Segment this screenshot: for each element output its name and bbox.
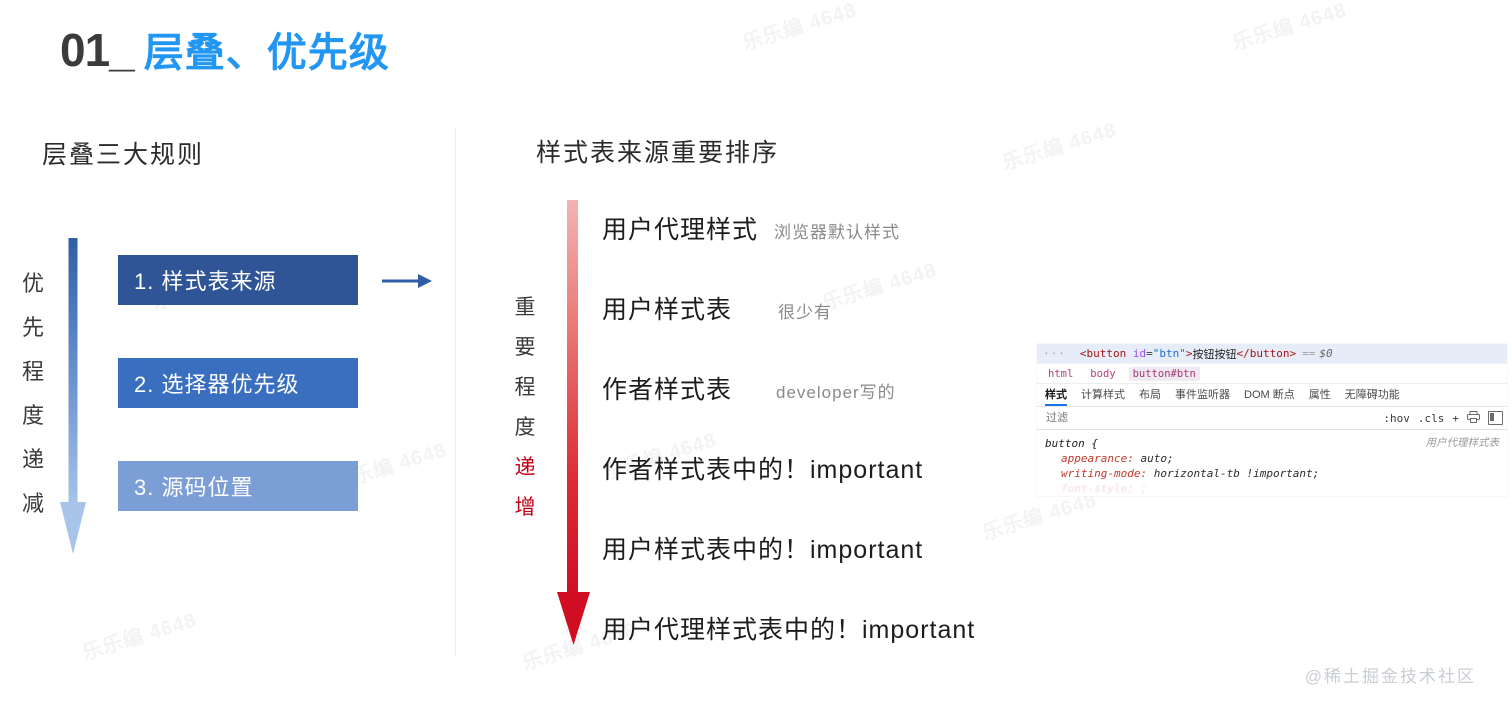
dom-close-tag: </button>: [1236, 347, 1296, 360]
left-axis-char: 程: [18, 350, 48, 394]
source-order-item-label: 用户代理样式表中的！important: [602, 610, 975, 646]
source-order-item-note: 很少有: [778, 298, 832, 323]
dom-attr-name: id: [1133, 347, 1146, 360]
cascade-rule-box-1[interactable]: 1. 样式表来源: [118, 255, 358, 305]
right-axis-char: 重: [510, 288, 540, 328]
right-arrow-blue-icon: [382, 270, 432, 292]
print-media-icon[interactable]: [1467, 411, 1480, 426]
devtools-breadcrumb: html body button#btn: [1037, 364, 1507, 384]
right-axis-char: 要: [510, 328, 540, 368]
left-section-heading: 层叠三大规则: [42, 135, 204, 171]
source-order-item: 用户样式表 很少有: [602, 290, 991, 370]
cascade-rule-box-3-label: 3. 源码位置: [134, 470, 253, 502]
css-declaration[interactable]: writing-mode: horizontal-tb !important;: [1045, 466, 1499, 481]
source-order-item: 用户代理样式 浏览器默认样式: [602, 210, 991, 290]
css-declaration[interactable]: appearance: auto;: [1045, 451, 1499, 466]
down-arrow-red-gradient-icon: [552, 200, 596, 650]
source-order-item-note: 浏览器默认样式: [774, 218, 900, 243]
tab-dom-breakpoints[interactable]: DOM 断点: [1244, 384, 1295, 406]
tab-event-listeners[interactable]: 事件监听器: [1175, 384, 1230, 406]
source-order-list: 用户代理样式 浏览器默认样式 用户样式表 很少有 作者样式表 developer…: [602, 210, 991, 690]
right-axis-char: 程: [510, 368, 540, 408]
breadcrumb-item-button[interactable]: button#btn: [1129, 367, 1200, 381]
cascade-rule-box-1-label: 1. 样式表来源: [134, 264, 276, 296]
dom-attr-value: "btn": [1153, 347, 1186, 360]
dom-dollar-zero: $0: [1319, 347, 1332, 360]
right-axis-label: 重 要 程 度 递 增: [510, 288, 540, 528]
tab-computed[interactable]: 计算样式: [1081, 384, 1125, 406]
watermark-text: 乐乐编 4648: [1228, 0, 1349, 56]
page-title: 01_ 层叠、优先级: [60, 20, 390, 78]
styles-toolbar: :hov .cls +: [1383, 411, 1503, 426]
toggle-sidebar-icon[interactable]: [1488, 411, 1503, 425]
devtools-css-rule: 用户代理样式表 button { appearance: auto; writi…: [1037, 430, 1507, 496]
left-axis-char: 优: [18, 262, 48, 306]
source-order-item: 作者样式表 developer写的: [602, 370, 991, 450]
watermark-text: 乐乐编 4648: [738, 0, 859, 56]
right-axis-char-highlight: 递: [510, 448, 540, 488]
cascade-rule-box-3[interactable]: 3. 源码位置: [118, 461, 358, 511]
source-order-item-label: 用户样式表中的！important: [602, 530, 923, 566]
source-order-item-label: 用户代理样式: [602, 210, 758, 246]
tab-layout[interactable]: 布局: [1139, 384, 1161, 406]
dom-ellipsis-icon[interactable]: ···: [1043, 347, 1066, 360]
source-order-item-label: 作者样式表中的！important: [602, 450, 923, 486]
dom-attr-eq: =: [1146, 347, 1153, 360]
source-order-item: 用户代理样式表中的！important: [602, 610, 991, 690]
page-title-text: 层叠、优先级: [144, 20, 390, 78]
breadcrumb-item-body[interactable]: body: [1086, 367, 1119, 381]
tab-styles[interactable]: 样式: [1045, 384, 1067, 406]
cascade-rule-box-2-label: 2. 选择器优先级: [134, 367, 299, 399]
watermark-text: 乐乐编 4648: [78, 603, 199, 665]
dom-inner-text: 按钮按钮: [1192, 346, 1236, 362]
left-axis-char: 递: [18, 438, 48, 482]
css-colon: :: [1127, 451, 1134, 466]
down-arrow-blue-gradient-icon: [58, 238, 88, 558]
left-axis-label: 优 先 程 度 递 减: [18, 262, 48, 526]
cascade-rule-box-2[interactable]: 2. 选择器优先级: [118, 358, 358, 408]
dom-gt: >: [1186, 347, 1193, 360]
left-axis-char: 度: [18, 394, 48, 438]
dom-equals: ==: [1302, 347, 1315, 360]
source-order-item-label: 用户样式表: [602, 290, 732, 326]
source-order-item-note: developer写的: [776, 378, 896, 403]
css-cutoff-text: font-style: ;: [1045, 481, 1147, 496]
devtools-filter-bar: :hov .cls +: [1037, 407, 1507, 430]
cascade-rule-box-list: 1. 样式表来源 2. 选择器优先级 3. 源码位置: [118, 255, 358, 511]
brand-watermark: @稀土掘金技术社区: [1305, 662, 1476, 687]
css-property-name: writing-mode: [1045, 466, 1140, 481]
css-colon: :: [1140, 466, 1147, 481]
right-section-heading: 样式表来源重要排序: [536, 133, 779, 169]
devtools-tabbar: 样式 计算样式 布局 事件监听器 DOM 断点 属性 无障碍功能: [1037, 384, 1507, 407]
devtools-panel: ··· <button id = "btn" > 按钮按钮 </button> …: [1037, 344, 1507, 496]
source-order-item: 作者样式表中的！important: [602, 450, 991, 530]
css-declaration-cutoff: font-style: ;: [1045, 481, 1499, 496]
source-order-item-label: 作者样式表: [602, 370, 732, 406]
print-media-icon-svg: [1467, 411, 1480, 423]
css-property-name: appearance: [1045, 451, 1127, 466]
right-axis-char-highlight: 增: [510, 488, 540, 528]
tab-accessibility[interactable]: 无障碍功能: [1345, 384, 1400, 406]
source-order-item: 用户样式表中的！important: [602, 530, 991, 610]
left-axis-char: 减: [18, 482, 48, 526]
column-divider: [455, 128, 456, 655]
cls-toggle-button[interactable]: .cls: [1418, 412, 1445, 425]
css-property-value: auto;: [1140, 452, 1173, 465]
css-selector: button {: [1045, 437, 1098, 450]
devtools-dom-line[interactable]: ··· <button id = "btn" > 按钮按钮 </button> …: [1037, 344, 1507, 364]
css-property-value: horizontal-tb !important;: [1154, 467, 1320, 480]
left-axis-char: 先: [18, 306, 48, 350]
new-style-rule-button[interactable]: +: [1452, 412, 1459, 425]
css-rule-origin: 用户代理样式表: [1426, 436, 1500, 451]
styles-filter-input[interactable]: [1044, 411, 1383, 425]
page-title-number: 01_: [60, 23, 134, 77]
watermark-text: 乐乐编 4648: [998, 113, 1119, 175]
hov-toggle-button[interactable]: :hov: [1383, 412, 1410, 425]
tab-properties[interactable]: 属性: [1309, 384, 1331, 406]
dom-open-tag: <button: [1080, 347, 1126, 360]
breadcrumb-item-html[interactable]: html: [1044, 367, 1077, 381]
slide-root: 乐乐编 4648 乐乐编 4648 乐乐编 4648 乐乐编 4648 乐乐编 …: [0, 0, 1512, 703]
right-axis-char: 度: [510, 408, 540, 448]
